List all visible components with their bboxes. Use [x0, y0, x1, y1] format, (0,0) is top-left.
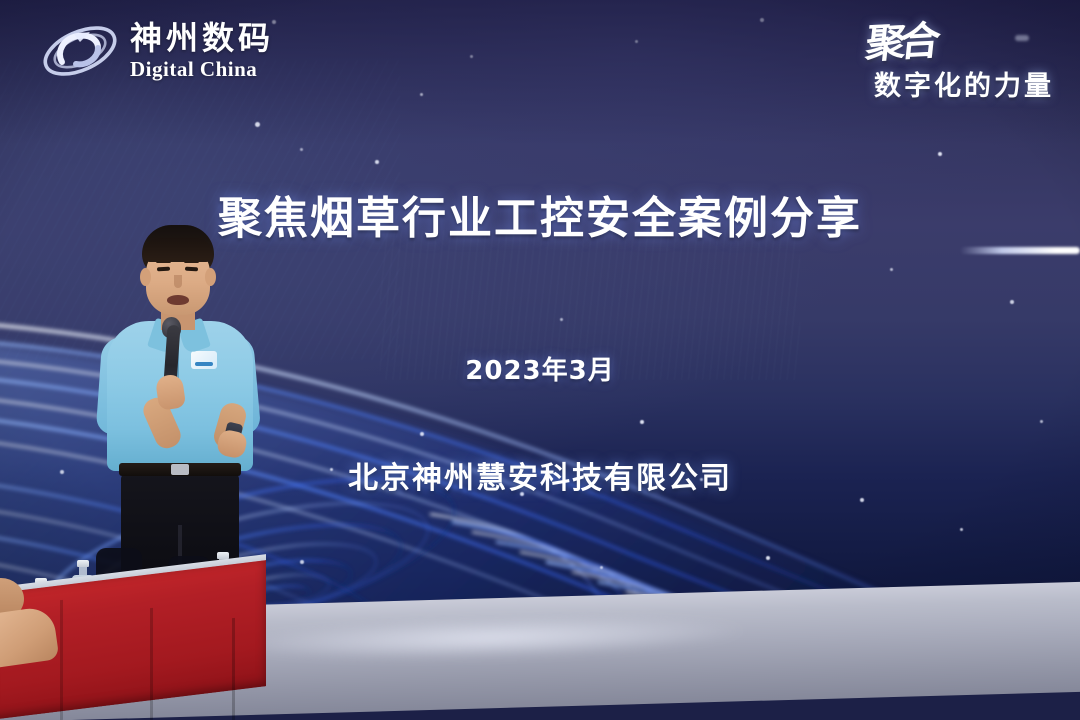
particle-dot: [860, 498, 864, 502]
particle-dot: [766, 556, 770, 560]
particle-dot: [640, 420, 644, 424]
particle-dot: [420, 432, 424, 436]
event-lockup: 聚合 数字化的力量: [866, 24, 1054, 103]
particle-dot: [375, 160, 379, 164]
speaker-ear-left: [140, 268, 151, 286]
brand-wordmark: 神州数码 Digital China: [130, 22, 274, 80]
speaker-brow-right: [184, 260, 199, 263]
particle-dot: [635, 40, 638, 43]
speaker-ear-right: [205, 268, 216, 286]
event-tagline: 数字化的力量: [866, 64, 1054, 103]
particle-dot: [300, 148, 303, 151]
particle-dot: [255, 122, 260, 127]
stage-photo: 聚焦烟草行业工控安全案例分享 2023年3月 北京神州慧安科技有限公司 神州数码…: [0, 0, 1080, 720]
brand-name-cn: 神州数码: [130, 22, 274, 54]
particle-dot: [470, 55, 473, 58]
speaker-mouth: [167, 295, 189, 305]
particle-dot: [938, 152, 942, 156]
particle-dot: [1040, 420, 1043, 423]
particle-dot: [300, 560, 304, 564]
bottle-neck: [79, 567, 87, 575]
particle-dot: [420, 93, 423, 96]
light-flare-right: [960, 247, 1080, 254]
speaker-nose: [174, 275, 182, 288]
particle-dot: [560, 318, 563, 321]
speaker-belt-buckle: [171, 464, 189, 475]
bottle-cap: [77, 560, 89, 567]
event-calligraphy: 聚合: [864, 22, 936, 64]
particle-dot: [890, 268, 893, 271]
brand-logo: 神州数码 Digital China: [40, 18, 274, 84]
swirl-galaxy-icon: [40, 18, 120, 84]
brand-name-en: Digital China: [130, 59, 274, 80]
particle-dot: [960, 528, 963, 531]
tablecloth-fold: [150, 608, 153, 720]
company-badge-icon: [191, 351, 217, 369]
tablecloth-fold: [232, 618, 235, 720]
particle-dot: [1010, 300, 1014, 304]
speaker-eye-left: [157, 267, 170, 272]
tablecloth-fold: [60, 600, 63, 720]
particle-dot: [760, 18, 764, 22]
speaker-brow-left: [156, 260, 171, 263]
speaker-eye-right: [185, 267, 198, 272]
particle-dot: [600, 566, 603, 569]
speaker-fringe: [143, 238, 213, 262]
